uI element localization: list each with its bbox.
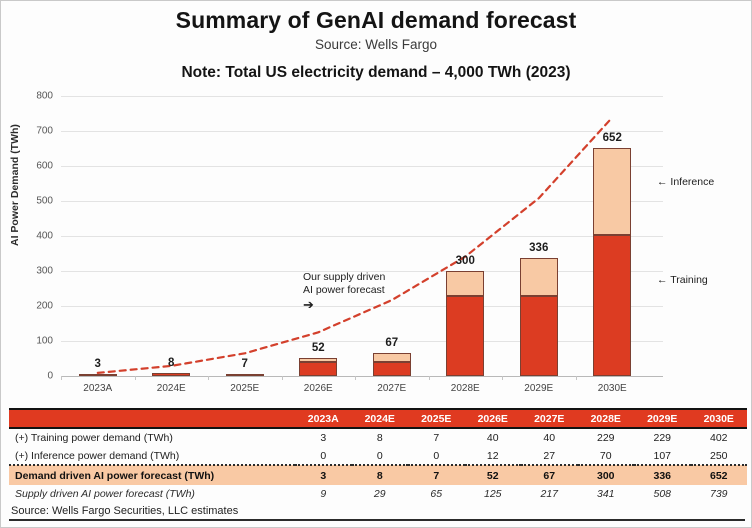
x-tick-label: 2029E	[524, 383, 553, 394]
table-cell: 336	[634, 465, 691, 485]
table-cell: 0	[352, 447, 409, 465]
table-cell: 229	[634, 428, 691, 447]
table-cell: 52	[465, 465, 522, 485]
table-cell: 300	[578, 465, 635, 485]
bar-value-label: 8	[168, 357, 174, 369]
table-cell: 12	[465, 447, 522, 465]
stacked-bar-chart: AI Power Demand (TWh) 010020030040050060…	[1, 86, 752, 406]
th-2026e: 2026E	[465, 409, 522, 428]
note-line: Note: Total US electricity demand – 4,00…	[1, 64, 751, 82]
th-2027e: 2027E	[521, 409, 578, 428]
table-cell: 0	[295, 447, 352, 465]
table-bottom-rule	[9, 519, 745, 521]
bar-value-label: 300	[456, 255, 475, 267]
table-cell: 27	[521, 447, 578, 465]
supply-forecast-annotation: Our supply driven AI power forecast ➔	[303, 271, 385, 314]
x-tick-label: 2024E	[157, 383, 186, 394]
table-cell: 250	[691, 447, 748, 465]
supply-note-arrow: ➔	[303, 297, 385, 313]
table-cell: 67	[521, 465, 578, 485]
table-cell: 40	[521, 428, 578, 447]
data-table-wrap: 2023A 2024E 2025E 2026E 2027E 2028E 2029…	[9, 408, 745, 521]
table-cell: 402	[691, 428, 748, 447]
table-header-row: 2023A 2024E 2025E 2026E 2027E 2028E 2029…	[9, 409, 747, 428]
table-cell: 70	[578, 447, 635, 465]
table-cell: 8	[352, 465, 409, 485]
chart-slide: Summary of GenAI demand forecast Source:…	[0, 0, 752, 528]
row-supply-driven-forecast: Supply driven AI power forecast (TWh)929…	[9, 485, 747, 503]
x-tick-label: 2023A	[83, 383, 112, 394]
source-subtitle: Source: Wells Fargo	[1, 37, 751, 52]
table-cell: 229	[578, 428, 635, 447]
row-training-power-demand: (+) Training power demand (TWh)387404022…	[9, 428, 747, 447]
th-2030e: 2030E	[691, 409, 748, 428]
x-tick-label: 2028E	[451, 383, 480, 394]
table-cell: 9	[295, 485, 352, 503]
row-demand-driven-forecast: Demand driven AI power forecast (TWh)387…	[9, 465, 747, 485]
table-cell: 7	[408, 428, 465, 447]
x-tick-label: 2027E	[377, 383, 406, 394]
bar-value-label: 336	[529, 242, 548, 254]
th-2023a: 2023A	[295, 409, 352, 428]
table-cell: 125	[465, 485, 522, 503]
page-title: Summary of GenAI demand forecast	[1, 7, 751, 34]
table-cell: 7	[408, 465, 465, 485]
supply-note-line1: Our supply driven	[303, 271, 385, 284]
table-cell: 739	[691, 485, 748, 503]
row-label: Supply driven AI power forecast (TWh)	[9, 485, 295, 503]
table-cell: 107	[634, 447, 691, 465]
bar-value-label: 7	[242, 358, 248, 370]
table-cell: 8	[352, 428, 409, 447]
table-cell: 3	[295, 428, 352, 447]
row-label: (+) Inference power demand (TWh)	[9, 447, 295, 465]
bar-value-label: 67	[385, 337, 398, 349]
th-label	[9, 409, 295, 428]
x-tick-label: 2025E	[230, 383, 259, 394]
th-2029e: 2029E	[634, 409, 691, 428]
bar-value-label: 52	[312, 342, 325, 354]
row-inference-power-demand: (+) Inference power demand (TWh)00012277…	[9, 447, 747, 465]
bar-value-label: 652	[603, 132, 622, 144]
th-2025e: 2025E	[408, 409, 465, 428]
training-callout: ← Training	[657, 274, 708, 286]
supply-forecast-line	[1, 86, 752, 406]
table-cell: 341	[578, 485, 635, 503]
table-cell: 29	[352, 485, 409, 503]
x-tick-label: 2030E	[598, 383, 627, 394]
table-body: (+) Training power demand (TWh)387404022…	[9, 428, 747, 503]
table-source-note: Source: Wells Fargo Securities, LLC esti…	[9, 503, 745, 517]
table-cell: 217	[521, 485, 578, 503]
row-label: (+) Training power demand (TWh)	[9, 428, 295, 447]
row-label: Demand driven AI power forecast (TWh)	[9, 465, 295, 485]
forecast-table: 2023A 2024E 2025E 2026E 2027E 2028E 2029…	[9, 408, 747, 503]
bar-value-label: 3	[95, 358, 101, 370]
x-tick-label: 2026E	[304, 383, 333, 394]
table-cell: 508	[634, 485, 691, 503]
table-cell: 652	[691, 465, 748, 485]
table-cell: 3	[295, 465, 352, 485]
th-2024e: 2024E	[352, 409, 409, 428]
table-cell: 0	[408, 447, 465, 465]
table-cell: 65	[408, 485, 465, 503]
inference-callout: ← Inference	[657, 176, 714, 188]
table-cell: 40	[465, 428, 522, 447]
supply-note-line2: AI power forecast	[303, 284, 385, 297]
th-2028e: 2028E	[578, 409, 635, 428]
